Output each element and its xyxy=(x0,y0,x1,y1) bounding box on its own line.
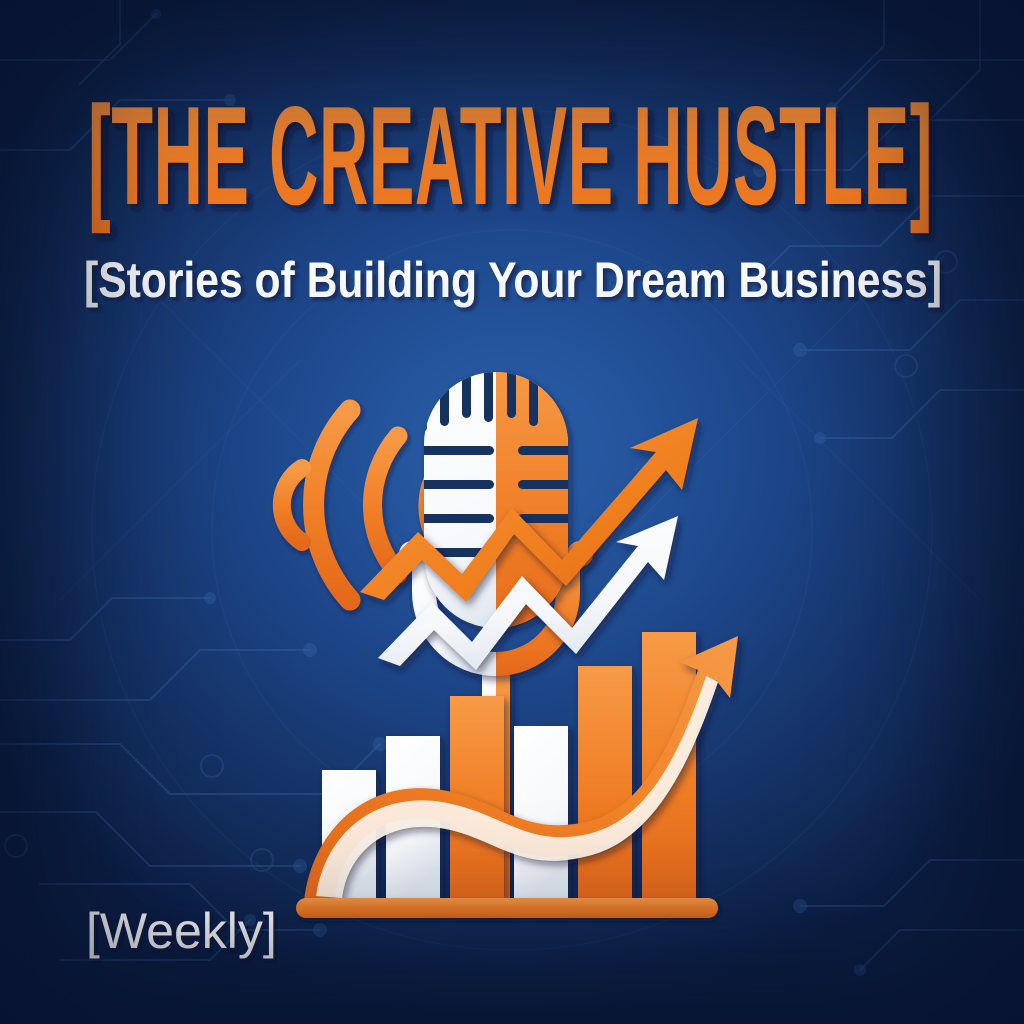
cover-cadence-text: [Weekly] xyxy=(86,903,277,959)
microphone-growth-chart-illustration xyxy=(286,340,756,930)
cover-cadence: [Weekly] xyxy=(86,905,386,959)
cover-subtitle: [Stories of Building Your Dream Business… xyxy=(84,252,950,310)
bar-5 xyxy=(578,666,632,898)
cover-title: [THE CREATIVE HUSTLE] xyxy=(88,92,948,232)
podcast-cover-art: [THE CREATIVE HUSTLE] [Stories of Buildi… xyxy=(0,0,1024,1024)
cover-title-text: [THE CREATIVE HUSTLE] xyxy=(88,77,933,234)
cover-subtitle-text: [Stories of Building Your Dream Business… xyxy=(84,252,942,308)
bar-4 xyxy=(514,726,568,898)
